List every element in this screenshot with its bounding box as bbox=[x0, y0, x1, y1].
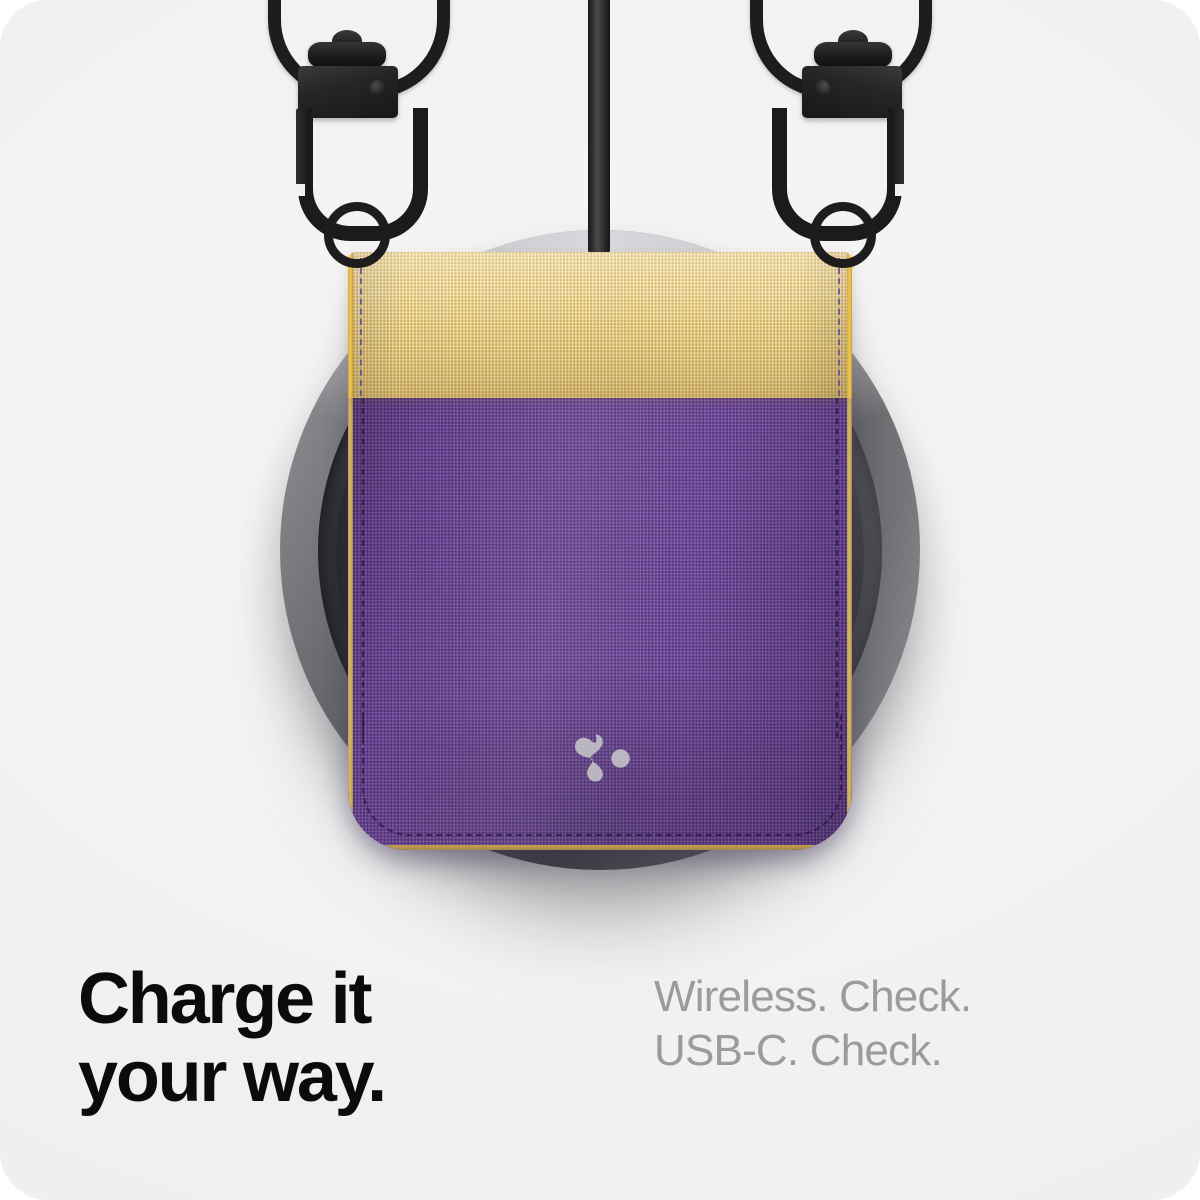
carabiner-gate-notch bbox=[296, 184, 305, 196]
carabiner-rivet bbox=[370, 80, 387, 97]
o-ring-icon bbox=[810, 202, 876, 268]
flap-stitch-left bbox=[360, 258, 362, 396]
product-marketing-poster: Charge it your way. Wireless. Check. USB… bbox=[0, 0, 1200, 1200]
subcopy: Wireless. Check. USB-C. Check. bbox=[654, 970, 971, 1078]
flap-edge-right bbox=[847, 252, 852, 398]
headline: Charge it your way. bbox=[78, 960, 385, 1116]
stitch-left bbox=[362, 388, 364, 738]
o-ring-icon bbox=[324, 202, 390, 268]
edge-binding-bottom bbox=[348, 845, 852, 850]
carabiner-gate-notch bbox=[895, 184, 904, 196]
canvas-pouch bbox=[348, 252, 852, 850]
charging-cable bbox=[588, 0, 610, 260]
edge-binding-right bbox=[847, 388, 852, 850]
pouch-flap-shading bbox=[348, 252, 852, 398]
flap-edge-left bbox=[348, 252, 353, 398]
flap-stitch-right bbox=[838, 258, 840, 396]
carabiner-gate bbox=[889, 108, 904, 194]
edge-binding-left bbox=[348, 388, 353, 850]
carabiner-rivet bbox=[813, 80, 830, 97]
pouch-flap-yellow bbox=[348, 252, 852, 398]
swivel-cap bbox=[814, 42, 892, 68]
stitch-right bbox=[836, 388, 838, 738]
carabiner-clip-right bbox=[758, 0, 948, 268]
carabiner-gate bbox=[296, 108, 311, 194]
spigen-logo-icon bbox=[565, 730, 635, 786]
swivel-cap bbox=[308, 42, 386, 68]
carabiner-clip-left bbox=[252, 0, 442, 268]
copy-block: Charge it your way. Wireless. Check. USB… bbox=[0, 960, 1200, 1160]
